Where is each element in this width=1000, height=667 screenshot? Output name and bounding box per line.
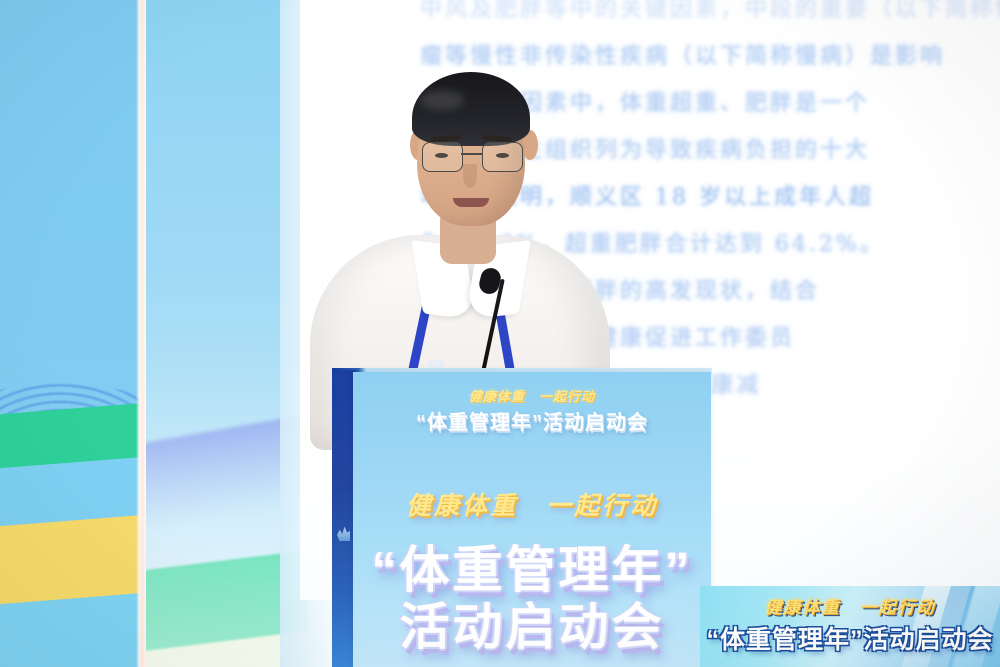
backdrop-band-lightblue-lower <box>0 590 141 667</box>
eyeglass-lens-left <box>422 142 463 172</box>
podium-front-title-line2: 活动启动会 <box>353 587 711 659</box>
screenshot-stage: 中风及肥胖等中的关键因素，中段的重要（以下简称慢病）是 瘤等慢性非传染性疾病（以… <box>0 0 1000 667</box>
watermark-slogan: 健康体重 一起行动 <box>700 593 1000 618</box>
eyeglass-bridge <box>461 153 482 155</box>
sparkle-icon <box>337 525 350 541</box>
backdrop-panel-seam <box>136 0 146 667</box>
eyeglass-lens-right <box>482 142 523 172</box>
mouth <box>453 198 489 207</box>
podium-top-title: “体重管理年”活动启动会 <box>353 406 711 435</box>
speaker-hair <box>412 72 530 146</box>
podium-front-panel: 健康体重 一起行动 “体重管理年”活动启动会 健康体重 一起行动 “体重管理年”… <box>353 372 711 667</box>
backdrop-panel-left <box>0 0 141 667</box>
slide-line: 中风及肥胖等中的关键因素，中段的重要（以下简称慢病）是 <box>420 0 1000 33</box>
speaker-person <box>300 60 630 390</box>
podium-front-slogan: 健康体重 一起行动 <box>353 486 711 522</box>
podium-top-slogan: 健康体重 一起行动 <box>353 386 711 405</box>
watermark-banner: 健康体重 一起行动 “体重管理年”活动启动会 <box>700 586 1000 667</box>
watermark-title: “体重管理年”活动启动会 <box>700 620 1000 656</box>
nose <box>463 164 477 188</box>
